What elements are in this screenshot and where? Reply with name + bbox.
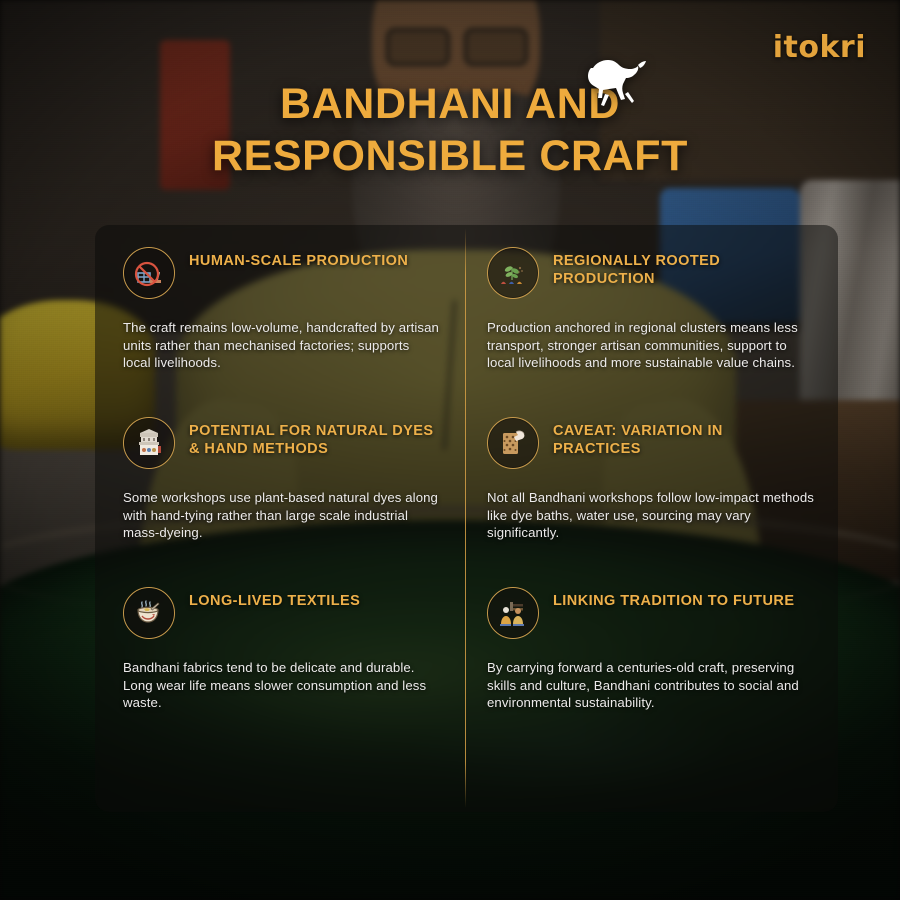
feature-heading: CAVEAT: VARIATION IN PRACTICES bbox=[553, 417, 814, 458]
feature-block-human-scale-production: HUMAN-SCALE PRODUCTION The craft remains… bbox=[95, 225, 465, 395]
no-factory-icon bbox=[123, 247, 175, 299]
feature-heading: LINKING TRADITION TO FUTURE bbox=[553, 587, 794, 611]
hand-holding-fabric-icon bbox=[487, 417, 539, 469]
feature-header: CAVEAT: VARIATION IN PRACTICES bbox=[487, 417, 814, 469]
feature-heading: HUMAN-SCALE PRODUCTION bbox=[189, 247, 408, 271]
infographic-canvas: itokri BANDHANI AND RESPONSIBLE CRAFT bbox=[0, 0, 900, 900]
feature-grid: HUMAN-SCALE PRODUCTION The craft remains… bbox=[95, 225, 838, 812]
feature-heading: POTENTIAL FOR NATURAL DYES & HAND METHOD… bbox=[189, 417, 439, 458]
feature-body: Not all Bandhani workshops follow low-im… bbox=[487, 489, 814, 542]
feature-header: HUMAN-SCALE PRODUCTION bbox=[123, 247, 439, 299]
feature-body: Some workshops use plant-based natural d… bbox=[123, 489, 439, 542]
feature-body: Production anchored in regional clusters… bbox=[487, 319, 814, 372]
goat-mark-icon bbox=[575, 52, 655, 108]
feature-body: Bandhani fabrics tend to be delicate and… bbox=[123, 659, 439, 712]
feature-body: By carrying forward a centuries-old craf… bbox=[487, 659, 814, 712]
feature-heading: LONG-LIVED TEXTILES bbox=[189, 587, 360, 611]
two-artisans-icon bbox=[487, 587, 539, 639]
workshop-building-icon bbox=[123, 417, 175, 469]
steaming-dye-pot-wrap: LONG-LIVED TEXTILES bbox=[123, 587, 439, 639]
feature-body: The craft remains low-volume, handcrafte… bbox=[123, 319, 439, 372]
feature-block-regionally-rooted-production: REGIONALLY ROOTED PRODUCTION Production … bbox=[465, 225, 838, 395]
feature-block-linking-tradition-to-future: LINKING TRADITION TO FUTURE By carrying … bbox=[465, 565, 838, 755]
title-line-1: BANDHANI AND bbox=[100, 78, 800, 130]
title-line-2: RESPONSIBLE CRAFT bbox=[100, 130, 800, 182]
feature-block-caveat-variation-in-practices: CAVEAT: VARIATION IN PRACTICES Not all B… bbox=[465, 395, 838, 565]
feature-header: POTENTIAL FOR NATURAL DYES & HAND METHOD… bbox=[123, 417, 439, 469]
itokri-logo[interactable]: itokri bbox=[773, 30, 866, 65]
page-title: BANDHANI AND RESPONSIBLE CRAFT bbox=[0, 78, 900, 183]
feature-block-natural-dyes-hand-methods: POTENTIAL FOR NATURAL DYES & HAND METHOD… bbox=[95, 395, 465, 565]
steaming-dye-pot-icon bbox=[123, 587, 175, 639]
feature-header: LINKING TRADITION TO FUTURE bbox=[487, 587, 814, 639]
feature-heading: REGIONALLY ROOTED PRODUCTION bbox=[553, 247, 814, 288]
feature-header: REGIONALLY ROOTED PRODUCTION bbox=[487, 247, 814, 299]
feature-block-long-lived-textiles: LONG-LIVED TEXTILES Bandhani fabrics ten… bbox=[95, 565, 465, 755]
plant-dye-sprig-icon bbox=[487, 247, 539, 299]
